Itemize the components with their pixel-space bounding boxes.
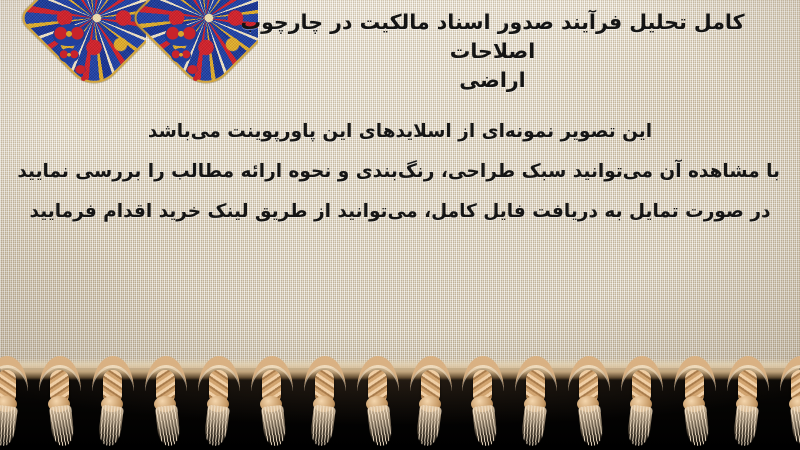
slide-title: کامل تحلیل فرآیند صدور اسناد مالکیت در چ…	[195, 8, 790, 95]
fringe-tassel	[37, 356, 83, 450]
fringe-brush	[203, 405, 230, 447]
fringe-tassel	[249, 356, 295, 450]
medallion-pendant-right	[164, 24, 198, 81]
pendant-node	[75, 65, 86, 74]
fringe-brush	[261, 405, 287, 447]
medallion-pendant-left	[52, 24, 86, 81]
fringe-tassel	[143, 356, 189, 450]
fringe-brush	[684, 405, 710, 447]
slide-canvas: کامل تحلیل فرآیند صدور اسناد مالکیت در چ…	[0, 0, 800, 450]
body-line-2: با مشاهده آن می‌توانید سبک طراحی، رنگ‌بن…	[20, 152, 780, 192]
fringe-tassel	[725, 356, 771, 450]
fringe-brush	[97, 405, 124, 447]
carpet-knotted-fringe	[0, 356, 800, 450]
body-line-3: در صورت تمایل به دریافت فایل کامل، می‌تو…	[20, 192, 780, 232]
fringe-brush	[626, 405, 653, 447]
fringe-brush	[790, 405, 800, 447]
pendant-tip	[81, 76, 86, 81]
fringe-tassel	[408, 356, 454, 450]
fringe-tassel	[302, 356, 348, 450]
pendant-node	[59, 48, 79, 63]
fringe-tassel	[619, 356, 665, 450]
fringe-tassel	[566, 356, 612, 450]
fringe-brush	[578, 405, 604, 447]
slide-title-line-2: اراضی	[195, 66, 790, 95]
fringe-tassel	[0, 356, 30, 450]
fringe-tassel	[778, 356, 800, 450]
fringe-tassel	[196, 356, 242, 450]
fringe-brush	[309, 405, 336, 447]
slide-title-line-1: کامل تحلیل فرآیند صدور اسناد مالکیت در چ…	[195, 8, 790, 66]
fringe-tassel	[460, 356, 506, 450]
fringe-brush	[415, 405, 442, 447]
fringe-brush	[49, 405, 75, 447]
body-line-1: این تصویر نمونه‌ای از اسلایدهای این پاور…	[20, 112, 780, 152]
fringe-tassel	[90, 356, 136, 450]
slide-body: این تصویر نمونه‌ای از اسلایدهای این پاور…	[20, 112, 780, 232]
fringe-brush	[732, 405, 759, 447]
fringe-brush	[155, 405, 181, 447]
fringe-brush	[473, 405, 499, 447]
pendant-node	[171, 48, 191, 63]
pendant-node	[165, 24, 197, 46]
fringe-brush	[367, 405, 393, 447]
fringe-brush	[521, 405, 548, 447]
fringe-tassel	[513, 356, 559, 450]
fringe-tassel	[355, 356, 401, 450]
fringe-tassel	[672, 356, 718, 450]
fringe-brush	[0, 405, 18, 447]
pendant-node	[53, 24, 85, 46]
